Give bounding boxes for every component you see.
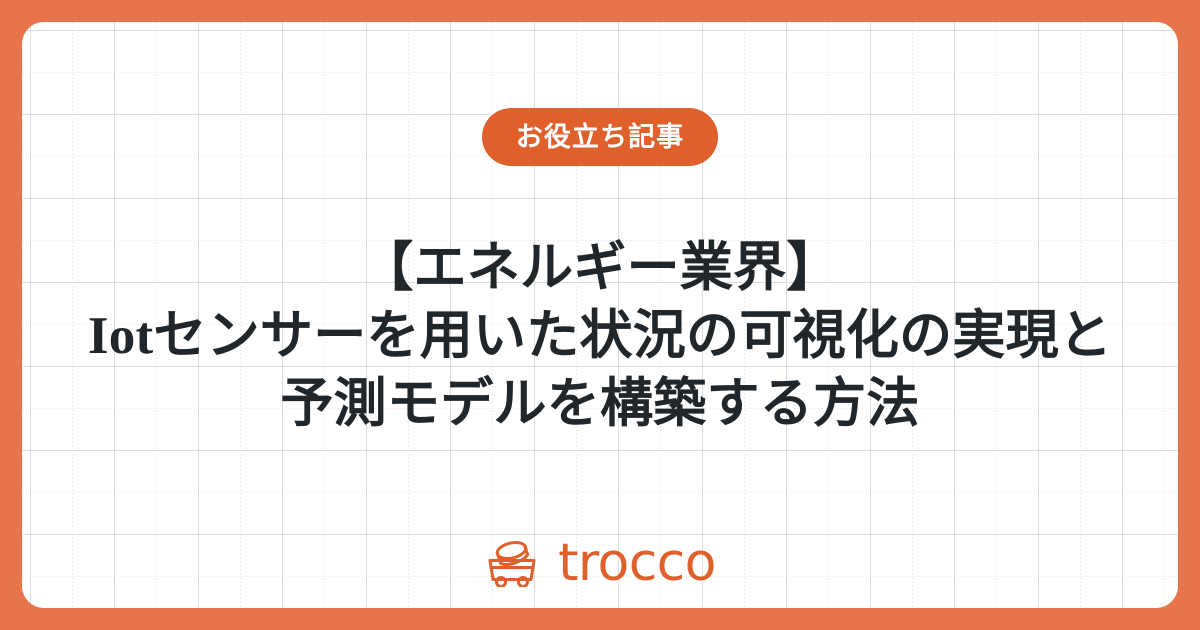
og-image-canvas: お役立ち記事 【エネルギー業界】 Iotセンサーを用いた状況の可視化の実現と 予… xyxy=(0,0,1200,630)
cart-with-barrel-icon xyxy=(484,539,542,587)
page-title: 【エネルギー業界】 Iotセンサーを用いた状況の可視化の実現と 予測モデルを構築… xyxy=(40,234,1160,438)
brand-wordmark: trocco xyxy=(558,537,716,589)
title-line-1: 【エネルギー業界】 xyxy=(40,234,1160,302)
title-line-3: 予測モデルを構築する方法 xyxy=(40,370,1160,438)
content-card: お役立ち記事 【エネルギー業界】 Iotセンサーを用いた状況の可視化の実現と 予… xyxy=(22,22,1178,608)
content-stack: お役立ち記事 【エネルギー業界】 Iotセンサーを用いた状況の可視化の実現と 予… xyxy=(22,22,1178,608)
brand-logo-lockup: trocco xyxy=(22,537,1178,589)
title-line-2: Iotセンサーを用いた状況の可視化の実現と xyxy=(40,302,1160,370)
category-badge: お役立ち記事 xyxy=(482,108,718,166)
